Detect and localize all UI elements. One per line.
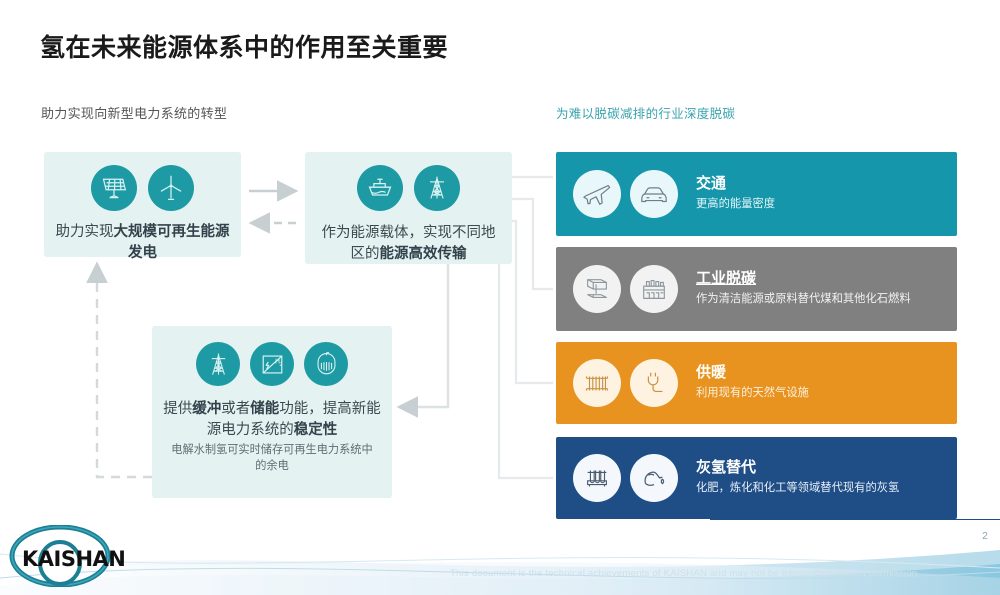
car-icon xyxy=(630,170,678,218)
panel-2-heading: 工业脱碳 xyxy=(696,270,911,289)
flow-box-1-label: 助力实现大规模可再生能源发电 xyxy=(44,222,241,263)
page-title: 氢在未来能源体系中的作用至关重要 xyxy=(40,28,448,64)
flow-box-3-icons: H 2 xyxy=(152,326,392,386)
radiator-icon xyxy=(573,359,621,407)
panel-4-heading: 灰氢替代 xyxy=(696,459,899,478)
panel-heating[interactable]: 供暖 利用现有的天然气设施 xyxy=(556,342,957,424)
kaishan-logo: KAISHAN xyxy=(8,525,158,587)
flow-box-2-icons xyxy=(305,152,512,211)
connector-hub-to-panel-2 xyxy=(512,199,553,289)
flow-box-renewable-generation[interactable]: 助力实现大规模可再生能源发电 xyxy=(44,152,241,257)
panel-3-text: 供暖 利用现有的天然气设施 xyxy=(696,364,809,401)
panel-2-desc: 作为清洁能源或原料替代煤和其他化石燃料 xyxy=(696,292,911,308)
flow-box-storage-buffer[interactable]: H 2 提供缓冲或者储能功能，提高新能源电力系统的稳定性 电解水制氢可实时储存可… xyxy=(152,326,392,498)
panel-2-icons xyxy=(573,265,678,313)
subtitle-right: 为难以脱碳减排的行业深度脱碳 xyxy=(556,103,735,122)
panel-4-desc: 化肥，炼化和化工等领域替代现有的灰氢 xyxy=(696,481,899,497)
storage-tank-icon xyxy=(304,342,348,386)
slide-canvas: 氢在未来能源体系中的作用至关重要 助力实现向新型电力系统的转型 为难以脱碳减排的… xyxy=(0,0,1000,595)
panel-transportation[interactable]: 交通 更高的能量密度 xyxy=(556,152,957,236)
page-number: 2 xyxy=(982,530,988,542)
solar-panel-icon xyxy=(91,165,137,211)
panel-4-text: 灰氢替代 化肥，炼化和化工等领域替代现有的灰氢 xyxy=(696,459,899,496)
panel-grey-hydrogen-replacement[interactable]: 灰氢替代 化肥，炼化和化工等领域替代现有的灰氢 xyxy=(556,437,957,519)
power-plug-icon xyxy=(630,359,678,407)
test-tube-rack-icon xyxy=(573,454,621,502)
transmission-tower-icon xyxy=(196,342,240,386)
footer-disclaimer: This document is the technical achieveme… xyxy=(450,568,995,579)
kaishan-logo-text: KAISHAN xyxy=(22,547,125,571)
panel-3-heading: 供暖 xyxy=(696,364,809,383)
panel-1-desc: 更高的能量密度 xyxy=(696,197,775,213)
slide-footer: KAISHAN xyxy=(0,520,1000,595)
flow-box-2-label: 作为能源载体，实现不同地区的能源高效传输 xyxy=(305,223,512,264)
airplane-icon xyxy=(573,170,621,218)
panel-1-icons xyxy=(573,170,678,218)
cargo-ship-icon xyxy=(357,165,403,211)
connector-hub-to-panel-3 xyxy=(512,221,553,383)
flow-box-energy-carrier[interactable]: 作为能源载体，实现不同地区的能源高效传输 xyxy=(305,152,512,264)
electrolyzer-h2-icon: H 2 xyxy=(250,342,294,386)
connector-hub-to-panel-4 xyxy=(499,243,553,478)
panel-3-icons xyxy=(573,359,678,407)
flow-box-3-label: 提供缓冲或者储能功能，提高新能源电力系统的稳定性 xyxy=(152,399,392,440)
flow-box-1-icons xyxy=(44,152,241,211)
factory-icon xyxy=(630,265,678,313)
panel-1-text: 交通 更高的能量密度 xyxy=(696,175,775,212)
steel-beam-icon xyxy=(573,265,621,313)
panel-2-text: 工业脱碳 作为清洁能源或原料替代煤和其他化石燃料 xyxy=(696,270,911,307)
panel-industrial-decarbonization[interactable]: 工业脱碳 作为清洁能源或原料替代煤和其他化石燃料 xyxy=(556,247,957,331)
panel-4-icons xyxy=(573,454,678,502)
connector-box2-to-box3 xyxy=(400,264,448,407)
connector-box3-to-box1 xyxy=(97,265,152,477)
svg-text:2: 2 xyxy=(279,361,282,367)
fuel-nozzle-icon xyxy=(630,454,678,502)
flow-box-3-subtext: 电解水制氢可实时储存可再生电力系统中的余电 xyxy=(152,443,392,474)
panel-1-heading: 交通 xyxy=(696,175,775,194)
transmission-tower-icon xyxy=(414,165,460,211)
wind-turbine-icon xyxy=(148,165,194,211)
subtitle-left: 助力实现向新型电力系统的转型 xyxy=(41,103,227,122)
panel-3-desc: 利用现有的天然气设施 xyxy=(696,386,809,402)
